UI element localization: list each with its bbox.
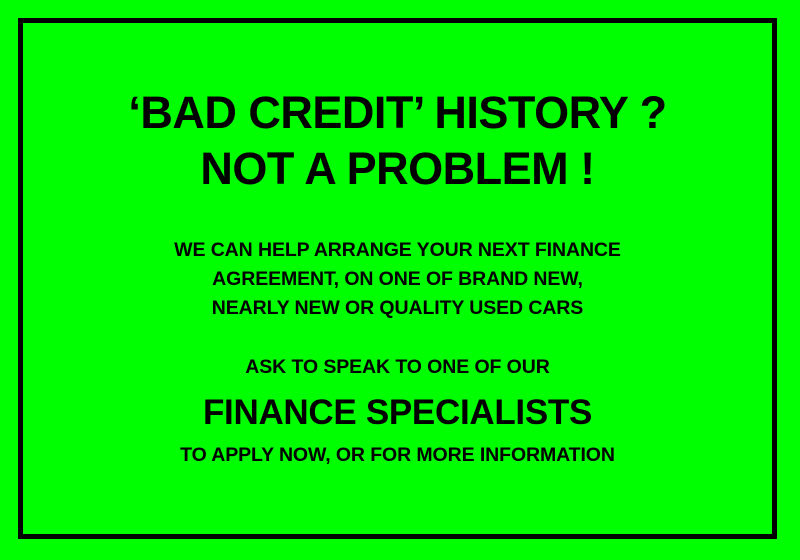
advertisement-poster: ‘BAD CREDIT’ HISTORY ? NOT A PROBLEM ! W… [0, 0, 800, 560]
headline-line-1: ‘BAD CREDIT’ HISTORY ? [23, 85, 772, 141]
body-line-3: NEARLY NEW OR QUALITY USED CARS [23, 294, 772, 323]
finance-specialists-heading: FINANCE SPECIALISTS [23, 391, 772, 435]
headline-block: ‘BAD CREDIT’ HISTORY ? NOT A PROBLEM ! [23, 85, 772, 197]
ask-to-speak-block: ASK TO SPEAK TO ONE OF OUR [23, 353, 772, 382]
apply-now-block: TO APPLY NOW, OR FOR MORE INFORMATION [23, 441, 772, 470]
apply-now-line: TO APPLY NOW, OR FOR MORE INFORMATION [23, 441, 772, 470]
body-line-1: WE CAN HELP ARRANGE YOUR NEXT FINANCE [23, 236, 772, 265]
body-line-2: AGREEMENT, ON ONE OF BRAND NEW, [23, 265, 772, 294]
poster-content: ‘BAD CREDIT’ HISTORY ? NOT A PROBLEM ! W… [23, 23, 772, 534]
finance-specialists-block: FINANCE SPECIALISTS [23, 391, 772, 435]
ask-to-speak-line: ASK TO SPEAK TO ONE OF OUR [23, 353, 772, 382]
body-copy-block: WE CAN HELP ARRANGE YOUR NEXT FINANCE AG… [23, 236, 772, 323]
headline-line-2: NOT A PROBLEM ! [23, 141, 772, 197]
poster-border-frame: ‘BAD CREDIT’ HISTORY ? NOT A PROBLEM ! W… [18, 18, 777, 539]
